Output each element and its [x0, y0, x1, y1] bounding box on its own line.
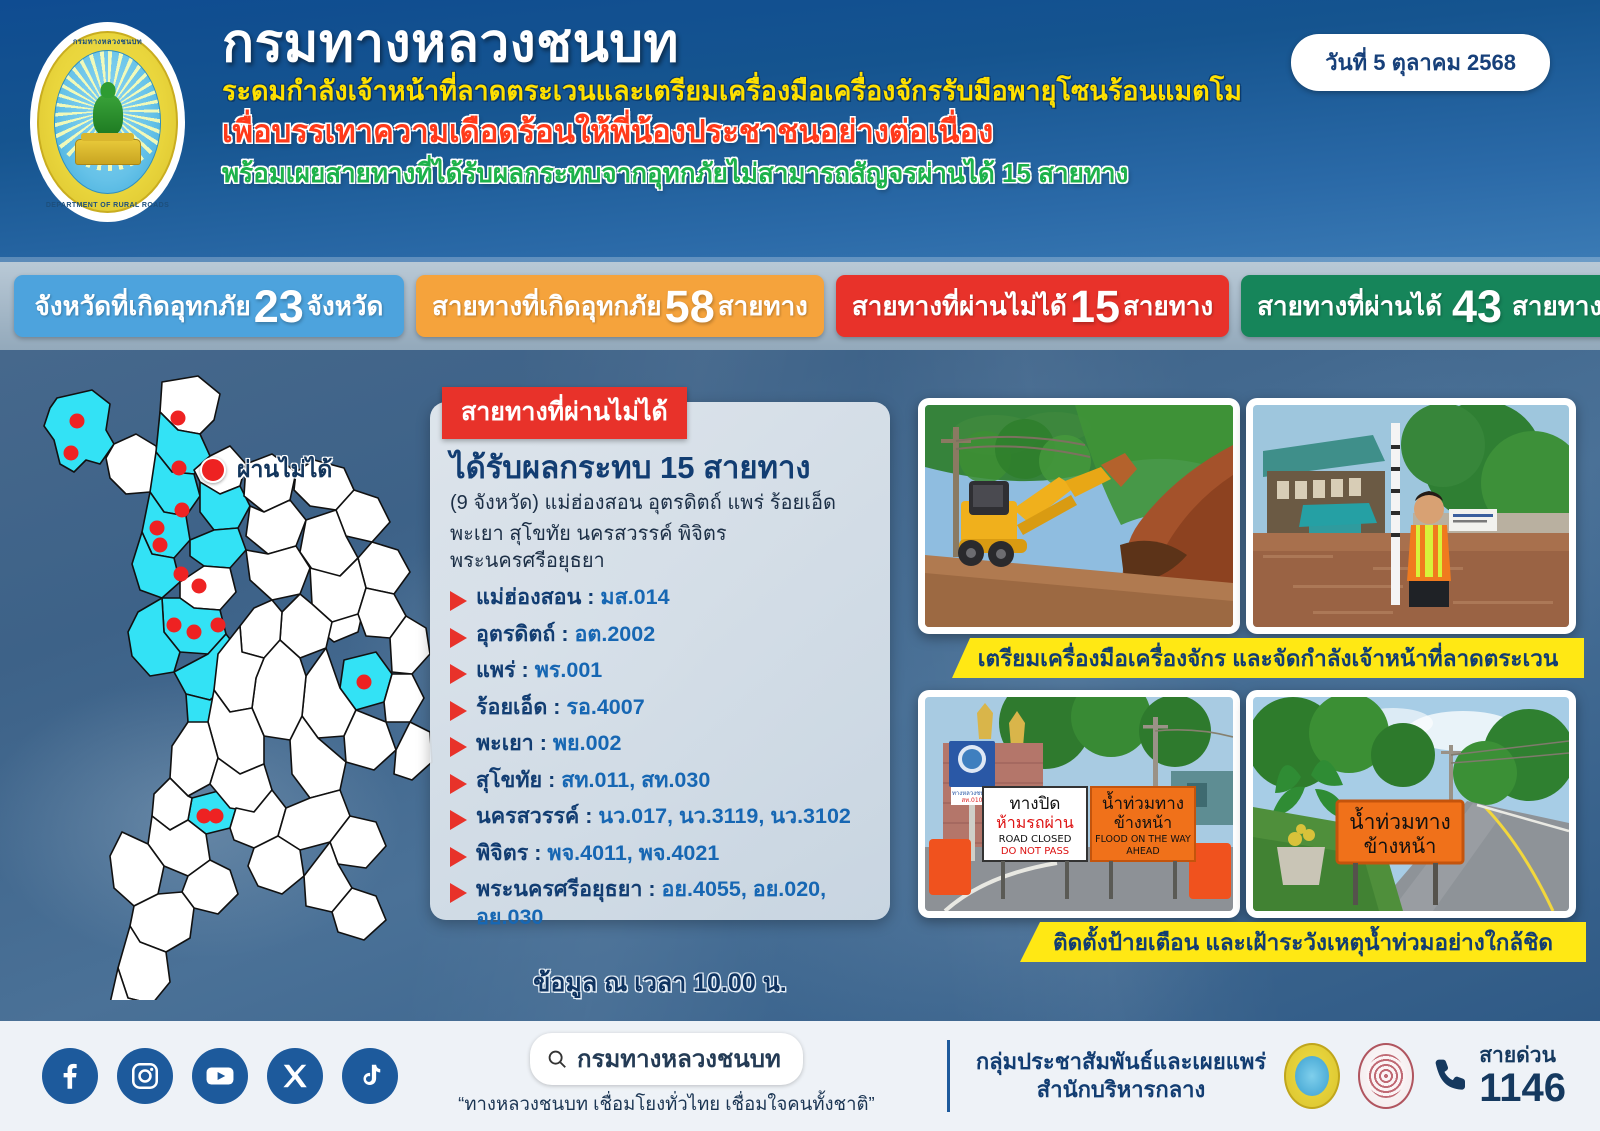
stat-flooded-routes: สายทางที่เกิดอุทกภัย 58 สายทาง — [416, 275, 824, 337]
statistics-bar: จังหวัดที่เกิดอุทกภัย 23 จังหวัด สายทางท… — [0, 262, 1600, 350]
marker-lampang — [172, 461, 187, 476]
route-list-item: พิจิตร : พจ.4011, พจ.4021 — [450, 840, 870, 868]
route-codes: พร.001 — [535, 658, 603, 682]
department-seal-logo: กรมทางหลวงชนบท DEPARTMENT OF RURAL ROADS — [30, 22, 185, 222]
route-province: นครสวรรค์ — [476, 804, 579, 828]
route-codes: พย.002 — [553, 731, 622, 755]
stat-label-after: สายทาง — [718, 286, 808, 327]
province-ubon — [394, 722, 432, 780]
marker-sukhothai-1 — [167, 618, 182, 633]
triangle-bullet-icon — [450, 591, 467, 611]
marker-mae-hong-son-1 — [70, 414, 85, 429]
sign-flood-th1: น้ำท่วมทาง — [1102, 791, 1184, 814]
sign-flood-en1: FLOOD ON THE WAY — [1095, 834, 1191, 845]
department-seal-small-icon — [1284, 1043, 1340, 1109]
photo-flood-ahead-sign: น้ำท่วมทาง ข้างหน้า — [1246, 690, 1576, 918]
triangle-bullet-icon — [450, 664, 467, 684]
page-footer: กรมทางหลวงชนบท “ทางหลวงชนบท เชื่อมโยงทั่… — [0, 1021, 1600, 1131]
triangle-bullet-icon — [450, 883, 467, 903]
marker-phrae-2 — [153, 538, 168, 553]
seal-text-bottom: DEPARTMENT OF RURAL ROADS — [30, 202, 185, 209]
sign-closed-th2: ห้ามรถผ่าน — [996, 813, 1074, 832]
sign-closed-en1: ROAD CLOSED — [999, 834, 1072, 845]
route-codes: สท.011, สท.030 — [561, 768, 710, 792]
social-links — [42, 1048, 398, 1104]
route-province: อุตรดิตถ์ — [476, 622, 555, 646]
sign-closed-th1: ทางปิด — [1010, 794, 1061, 814]
search-icon — [546, 1048, 568, 1070]
stat-label-before: สายทางที่ผ่านได้ — [1257, 286, 1442, 327]
stat-label-before: สายทางที่เกิดอุทกภัย — [432, 286, 662, 327]
photo-caption-bottom: ติดตั้งป้ายเตือน และเฝ้าระวังเหตุน้ำท่วม… — [1020, 922, 1586, 962]
tiktok-icon[interactable] — [342, 1048, 398, 1104]
hotline-block: สายด่วน 1146 — [1432, 1045, 1566, 1108]
sign4-flood-th2: ข้างหน้า — [1364, 834, 1437, 858]
stat-value: 58 — [665, 284, 715, 329]
footer-slogan: “ทางหลวงชนบท เชื่อมโยงทั่วไทย เชื่อมใจคน… — [458, 1090, 875, 1119]
triangle-bullet-icon — [450, 847, 467, 867]
triangle-bullet-icon — [450, 774, 467, 794]
route-province: พระนครศรีอยุธยา — [476, 877, 642, 901]
triangle-bullet-icon — [450, 810, 467, 830]
legend-label: ผ่านไม่ได้ — [237, 452, 332, 488]
triangle-bullet-icon — [450, 628, 467, 648]
instagram-icon[interactable] — [117, 1048, 173, 1104]
km-sign-line2: สท.010 — [962, 797, 983, 804]
stat-value: 23 — [254, 284, 304, 329]
stat-label-after: สายทาง — [1512, 286, 1600, 327]
footer-search-block: กรมทางหลวงชนบท “ทางหลวงชนบท เชื่อมโยงทั่… — [412, 1033, 921, 1119]
province-yasothon — [384, 674, 424, 722]
route-list-item: พะเยา : พย.002 — [450, 730, 870, 758]
marker-phrae-1 — [150, 521, 165, 536]
stat-passable-routes: สายทางที่ผ่านได้ 43 สายทาง — [1241, 275, 1600, 337]
marker-uttaradit-2 — [192, 579, 207, 594]
route-list-item: สุโขทัย : สท.011, สท.030 — [450, 767, 870, 795]
route-province: แม่ฮ่องสอน — [476, 585, 581, 609]
route-list-item: แม่ฮ่องสอน : มส.014 — [450, 584, 870, 612]
map-legend: ผ่านไม่ได้ — [200, 452, 332, 488]
infographic-page: กรมทางหลวงชนบท DEPARTMENT OF RURAL ROADS… — [0, 0, 1600, 1131]
marker-nan — [175, 503, 190, 518]
province-uttaradit — [190, 528, 246, 568]
x-twitter-icon[interactable] — [267, 1048, 323, 1104]
photo-caption-top: เตรียมเครื่องมือเครื่องจักร และจัดกำลังเ… — [952, 638, 1584, 678]
route-list-item: พระนครศรีอยุธยา : อย.4055, อย.020, อย.03… — [450, 876, 870, 931]
stat-impassable-routes: สายทางที่ผ่านไม่ได้ 15 สายทาง — [836, 275, 1229, 337]
photo-officer-measuring-flood-depth — [1246, 398, 1576, 634]
photo-3-illustration: ทางหลวงชนบท สท.010 ทางปิด ห้ามรถผ่าน ROA… — [925, 697, 1233, 911]
footer-org-name: กลุ่มประชาสัมพันธ์และเผยแพร่ สำนักบริหาร… — [976, 1048, 1266, 1103]
route-codes: นว.017, นว.3119, นว.3102 — [598, 804, 850, 828]
header-subtitle-line3: เพื่อบรรเทาความเดือดร้อนให้พี่น้องประชาช… — [222, 113, 1580, 152]
photo-4-illustration: น้ำท่วมทาง ข้างหน้า — [1253, 697, 1569, 911]
facebook-icon[interactable] — [42, 1048, 98, 1104]
province-loei-upper — [246, 500, 306, 554]
route-list-item: อุตรดิตถ์ : อต.2002 — [450, 621, 870, 649]
impassable-routes-panel: สายทางที่ผ่านไม่ได้ ได้รับผลกระทบ 15 สาย… — [430, 402, 890, 920]
photo-road-closed-signs: ทางหลวงชนบท สท.010 ทางปิด ห้ามรถผ่าน ROA… — [918, 690, 1240, 918]
route-codes: พจ.4011, พจ.4021 — [547, 841, 719, 865]
stat-label-after: จังหวัด — [307, 286, 384, 327]
route-list-item: ร้อยเอ็ด : รอ.4007 — [450, 694, 870, 722]
search-text: กรมทางหลวงชนบท — [577, 1039, 781, 1078]
sign-closed-en2: DO NOT PASS — [1001, 846, 1069, 857]
panel-tag: สายทางที่ผ่านไม่ได้ — [442, 387, 687, 439]
route-list: แม่ฮ่องสอน : มส.014 อุตรดิตถ์ : อต.2002 … — [450, 584, 870, 931]
route-list-item: นครสวรรค์ : นว.017, นว.3119, นว.3102 — [450, 803, 870, 831]
route-province: สุโขทัย — [476, 768, 542, 792]
stat-label-after: สายทาง — [1123, 286, 1213, 327]
data-timestamp: ข้อมูล ณ เวลา 10.00 น. — [430, 963, 890, 1003]
marker-mae-hong-son-2 — [64, 446, 79, 461]
date-badge: วันที่ 5 ตุลาคม 2568 — [1291, 34, 1550, 91]
phone-icon — [1432, 1053, 1472, 1099]
ministry-seal-small-icon — [1358, 1043, 1414, 1109]
route-codes: อต.2002 — [574, 622, 655, 646]
province-loei — [246, 546, 310, 600]
triangle-bullet-icon — [450, 737, 467, 757]
province-mae-hong-son — [44, 390, 114, 472]
route-province: ร้อยเอ็ด — [476, 695, 547, 719]
marker-phichit — [211, 618, 226, 633]
hotline-label: สายด่วน — [1479, 1045, 1566, 1066]
footer-org-line1: กลุ่มประชาสัมพันธ์และเผยแพร่ — [976, 1048, 1266, 1076]
route-codes: มส.014 — [600, 585, 669, 609]
page-header: กรมทางหลวงชนบท DEPARTMENT OF RURAL ROADS… — [0, 0, 1600, 262]
footer-org-line2: สำนักบริหารกลาง — [976, 1076, 1266, 1104]
sign4-flood-th1: น้ำท่วมทาง — [1349, 807, 1451, 834]
stat-value: 15 — [1070, 284, 1120, 329]
sign-flood-th2: ข้างหน้า — [1114, 813, 1172, 832]
stat-flooded-provinces: จังหวัดที่เกิดอุทกภัย 23 จังหวัด — [14, 275, 404, 337]
route-province: พะเยา — [476, 731, 534, 755]
photo-excavator-clearing-landslide — [918, 398, 1240, 634]
triangle-bullet-icon — [450, 701, 467, 721]
hotline-number: 1146 — [1479, 1068, 1566, 1108]
marker-ayutthaya-2 — [209, 809, 224, 824]
stat-value: 43 — [1452, 284, 1502, 329]
sign-flood-en2: AHEAD — [1126, 846, 1159, 857]
route-codes: รอ.4007 — [566, 695, 644, 719]
marker-phayao — [171, 411, 186, 426]
youtube-icon[interactable] — [192, 1048, 248, 1104]
route-list-item: แพร่ : พร.001 — [450, 657, 870, 685]
panel-subheading-line2: พะเยา สุโขทัย นครสวรรค์ พิจิตร พระนครศรี… — [450, 521, 870, 575]
marker-uttaradit-1 — [174, 567, 189, 582]
photo-2-illustration — [1253, 405, 1569, 627]
panel-heading: ได้รับผลกระทบ 15 สายทาง — [450, 450, 870, 486]
stat-label-before: จังหวัดที่เกิดอุทกภัย — [35, 286, 251, 327]
route-province: แพร่ — [476, 658, 516, 682]
stat-label-before: สายทางที่ผ่านไม่ได้ — [852, 286, 1067, 327]
search-box[interactable]: กรมทางหลวงชนบท — [530, 1033, 803, 1085]
seal-text-top: กรมทางหลวงชนบท — [30, 36, 185, 48]
marker-roi-et — [357, 675, 372, 690]
marker-sukhothai-2 — [187, 625, 202, 640]
panel-subheading-line1: (9 จังหวัด) แม่ฮ่องสอน อุตรดิตถ์ แพร่ ร้… — [450, 490, 870, 517]
footer-right-block: กลุ่มประชาสัมพันธ์และเผยแพร่ สำนักบริหาร… — [976, 1043, 1566, 1109]
route-province: พิจิตร — [476, 841, 528, 865]
legend-marker-icon — [200, 457, 226, 483]
photo-1-illustration — [925, 405, 1233, 627]
header-subtitle-line4: พร้อมเผยสายทางที่ได้รับผลกระทบจากอุทกภัย… — [222, 157, 1580, 190]
footer-divider — [947, 1040, 950, 1112]
